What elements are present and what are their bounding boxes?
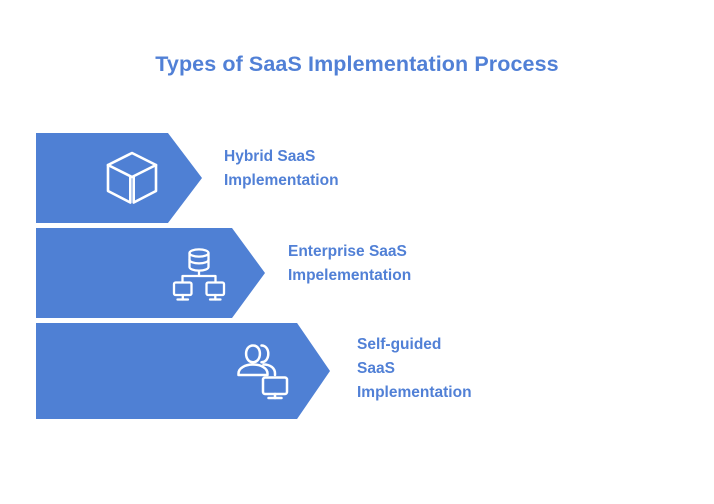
users-monitor-icon	[232, 339, 294, 401]
infographic-canvas: Types of SaaS Implementation Process Hyb…	[0, 0, 714, 504]
step-label-3: Self-guided SaaS Implementation	[357, 333, 472, 405]
step-label-1: Hybrid SaaS Implementation	[224, 145, 339, 193]
cube-box-icon	[101, 147, 163, 209]
step-label-2: Enterprise SaaS Impelementation	[288, 240, 411, 288]
page-title: Types of SaaS Implementation Process	[0, 52, 714, 77]
chevron-shape-2	[36, 228, 265, 318]
database-servers-icon	[168, 243, 230, 305]
